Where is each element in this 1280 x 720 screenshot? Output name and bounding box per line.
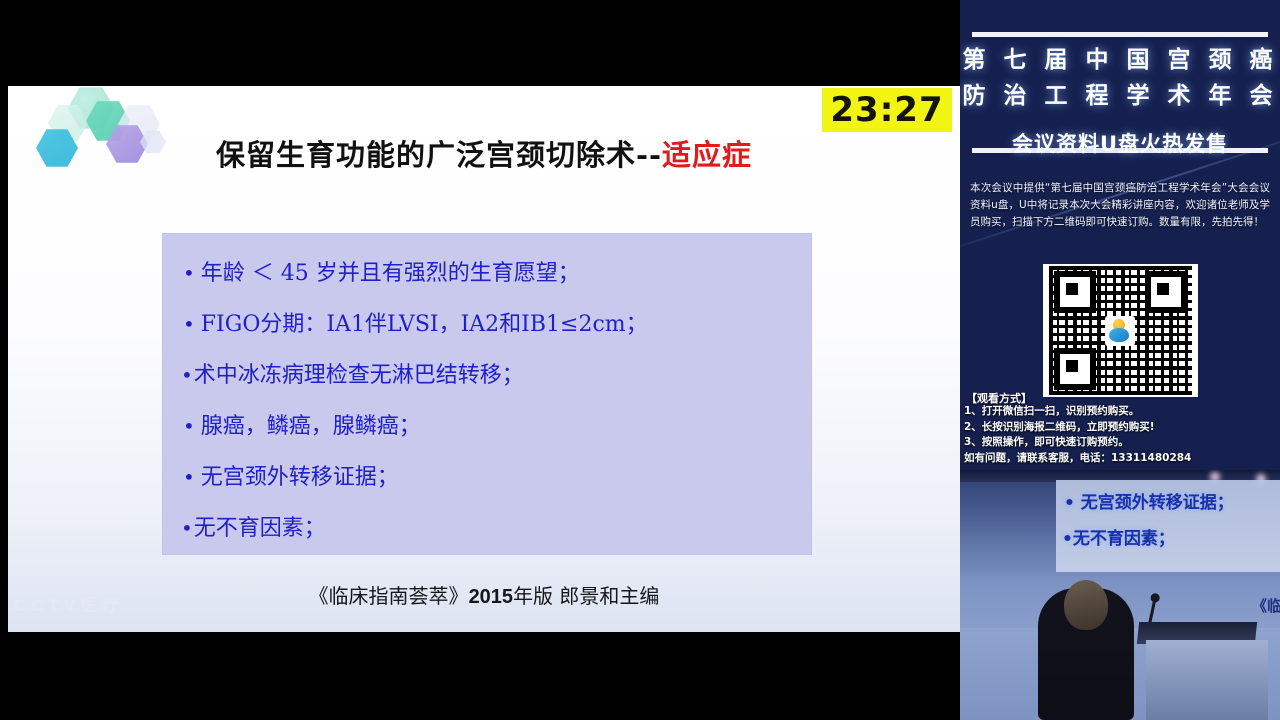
list-item: • 无宫颈外转移证据； <box>163 452 811 503</box>
projected-text-line1: • 无宫颈外转移证据； <box>1064 488 1234 513</box>
projected-text-line2: •无不育因素； <box>1062 524 1175 549</box>
citation-source: 《临床指南荟萃》 <box>309 584 469 608</box>
slide-region: 保留生育功能的广泛宫颈切除术--适应症 • 年龄 ＜ 45 岁并且有强烈的生育愿… <box>0 0 960 720</box>
howto-step: 2、长按识别海报二维码，立即预约购买! <box>964 420 1274 436</box>
speaker-head <box>1064 580 1108 630</box>
ad-description: 本次会议中提供“第七届中国宫颈癌防治工程学术年会”大会会议资料u盘，U中将记录本… <box>970 180 1270 231</box>
bullet-marker-icon: • <box>183 248 195 299</box>
slide-title-highlight: 适应症 <box>662 138 752 172</box>
banner-title-line1: 第 七 届 中 国 宫 颈 癌 <box>960 40 1280 74</box>
qr-finder-icon <box>1054 271 1096 313</box>
list-item: • 术中冰冻病理检查无淋巴结转移； <box>163 350 811 401</box>
list-item-text: 无宫颈外转移证据； <box>201 452 399 503</box>
broadcast-viewer: 保留生育功能的广泛宫颈切除术--适应症 • 年龄 ＜ 45 岁并且有强烈的生育愿… <box>0 0 1280 720</box>
list-item: • 年龄 ＜ 45 岁并且有强烈的生育愿望； <box>163 248 811 299</box>
bullet-marker-icon: • <box>183 401 195 452</box>
channel-watermark: CCTV医疗 <box>14 591 124 616</box>
citation-editor: 年版 郎景和主编 <box>513 584 659 608</box>
list-item-text: 无不育因素； <box>194 503 326 554</box>
banner-title-line2: 防 治 工 程 学 术 年 会 <box>960 76 1280 110</box>
presentation-slide: 保留生育功能的广泛宫颈切除术--适应症 • 年龄 ＜ 45 岁并且有强烈的生育愿… <box>8 86 960 632</box>
howto-steps: 1、打开微信扫一扫，识别预约购买。 2、长按识别海报二维码，立即预约购买! 3、… <box>964 404 1274 466</box>
list-item: • FIGO分期：IA1伴LVSI，IA2和IB1≤2cm； <box>163 299 811 350</box>
qr-finder-icon <box>1054 348 1096 390</box>
qr-center-logo-icon <box>1105 316 1135 346</box>
bullet-list: • 年龄 ＜ 45 岁并且有强烈的生育愿望； • FIGO分期：IA1伴LVSI… <box>163 248 811 554</box>
bullet-marker-icon: • <box>181 503 193 554</box>
slide-citation: 《临床指南荟萃》2015年版 郎景和主编 <box>8 580 960 609</box>
bullet-marker-icon: • <box>183 452 195 503</box>
slide-title-main: 保留生育功能的广泛宫颈切除术-- <box>216 138 662 172</box>
howto-step: 3、按照操作，即可快速订购预约。 <box>964 435 1274 451</box>
qr-finder-icon <box>1145 271 1187 313</box>
slide-title: 保留生育功能的广泛宫颈切除术--适应症 <box>8 132 960 174</box>
support-contact: 如有问题，请联系客服，电话：13311480284 <box>964 451 1274 467</box>
bullet-marker-icon: • <box>183 299 195 350</box>
projected-citation: 《临 <box>1252 595 1280 616</box>
list-item-text: 年龄 ＜ 45 岁并且有强烈的生育愿望； <box>201 248 580 299</box>
banner-divider-top <box>972 32 1268 37</box>
podium <box>1146 640 1268 720</box>
banner-subtitle: 会议资料U盘火热发售 <box>960 128 1280 158</box>
bullet-marker-icon: • <box>181 350 193 401</box>
list-item-text: 术中冰冻病理检查无淋巴结转移； <box>194 350 524 401</box>
list-item-text: FIGO分期：IA1伴LVSI，IA2和IB1≤2cm； <box>201 299 648 350</box>
list-item: • 无不育因素； <box>163 503 811 554</box>
live-camera-feed: • 无宫颈外转移证据； •无不育因素； 《临 <box>960 470 1280 720</box>
list-item-text: 腺癌，鳞癌，腺鳞癌； <box>201 401 421 452</box>
howto-step: 1、打开微信扫一扫，识别预约购买。 <box>964 404 1274 420</box>
list-item: • 腺癌，鳞癌，腺鳞癌； <box>163 401 811 452</box>
qr-code[interactable] <box>1049 266 1192 395</box>
citation-year: 2015 <box>469 586 514 608</box>
countdown-timer: 23:27 <box>822 88 952 132</box>
slide-content-box: • 年龄 ＜ 45 岁并且有强烈的生育愿望； • FIGO分期：IA1伴LVSI… <box>163 234 811 554</box>
